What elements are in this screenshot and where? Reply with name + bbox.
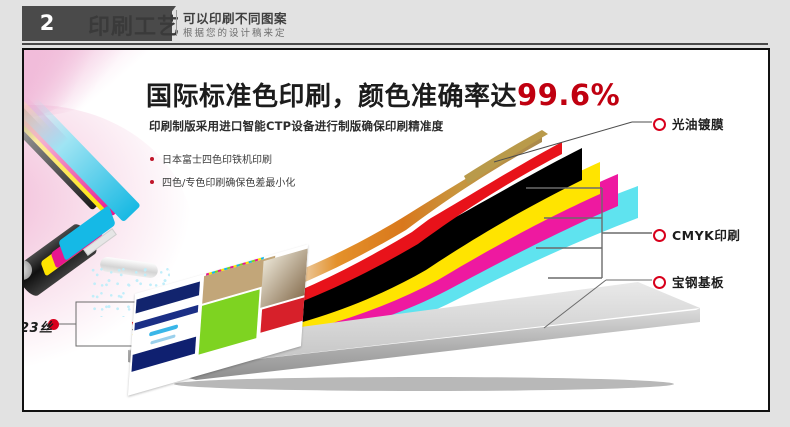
page-title: 国际标准色印刷，颜色准确率达99.6% [146, 76, 620, 113]
page-title-highlight: 99.6% [517, 78, 620, 112]
step-number: 2 [32, 10, 62, 36]
callout-label-cmyk: CMYK印刷 [672, 225, 740, 244]
callout-label-23si: 23丝 [22, 317, 53, 336]
feature-bullet-2-text: 四色/专色印刷确保色差最小化 [162, 178, 295, 189]
feature-bullet-1: 日本富士四色印铁机印刷 [150, 151, 272, 166]
section-header: 2 印刷工艺 可以印刷不同图案 根据您的设计稿来定 [0, 0, 790, 44]
bullet-dot-icon [150, 180, 154, 184]
callout-marker-substrate [653, 276, 666, 289]
content-frame: 光油镀膜 CMYK印刷 宝钢基板 23丝 国际标准色印刷，颜色准确率达99.6%… [22, 48, 770, 412]
bullet-dot-icon [150, 157, 154, 161]
product-detail-page: 2 印刷工艺 可以印刷不同图案 根据您的设计稿来定 [0, 0, 790, 427]
page-title-prefix: 国际标准色印刷，颜色准确率达 [146, 82, 517, 112]
plate-shadow [174, 377, 674, 391]
feature-bullet-1-text: 日本富士四色印铁机印刷 [162, 155, 272, 166]
leader-line-varnish [494, 122, 632, 162]
header-subtitle-secondary: 根据您的设计稿来定 [183, 25, 287, 39]
feature-bullet-2: 四色/专色印刷确保色差最小化 [150, 174, 295, 189]
callout-label-substrate: 宝钢基板 [672, 272, 724, 291]
callout-label-varnish: 光油镀膜 [672, 114, 724, 133]
header-rule [22, 43, 768, 45]
callout-marker-cmyk [653, 229, 666, 242]
section-title: 印刷工艺 [88, 9, 180, 41]
callout-marker-varnish [653, 118, 666, 131]
header-divider [176, 10, 177, 36]
sheet-block-navy-3 [131, 337, 196, 372]
page-subtitle: 印刷制版采用进口智能CTP设备进行制版确保印刷精准度 [149, 118, 443, 134]
